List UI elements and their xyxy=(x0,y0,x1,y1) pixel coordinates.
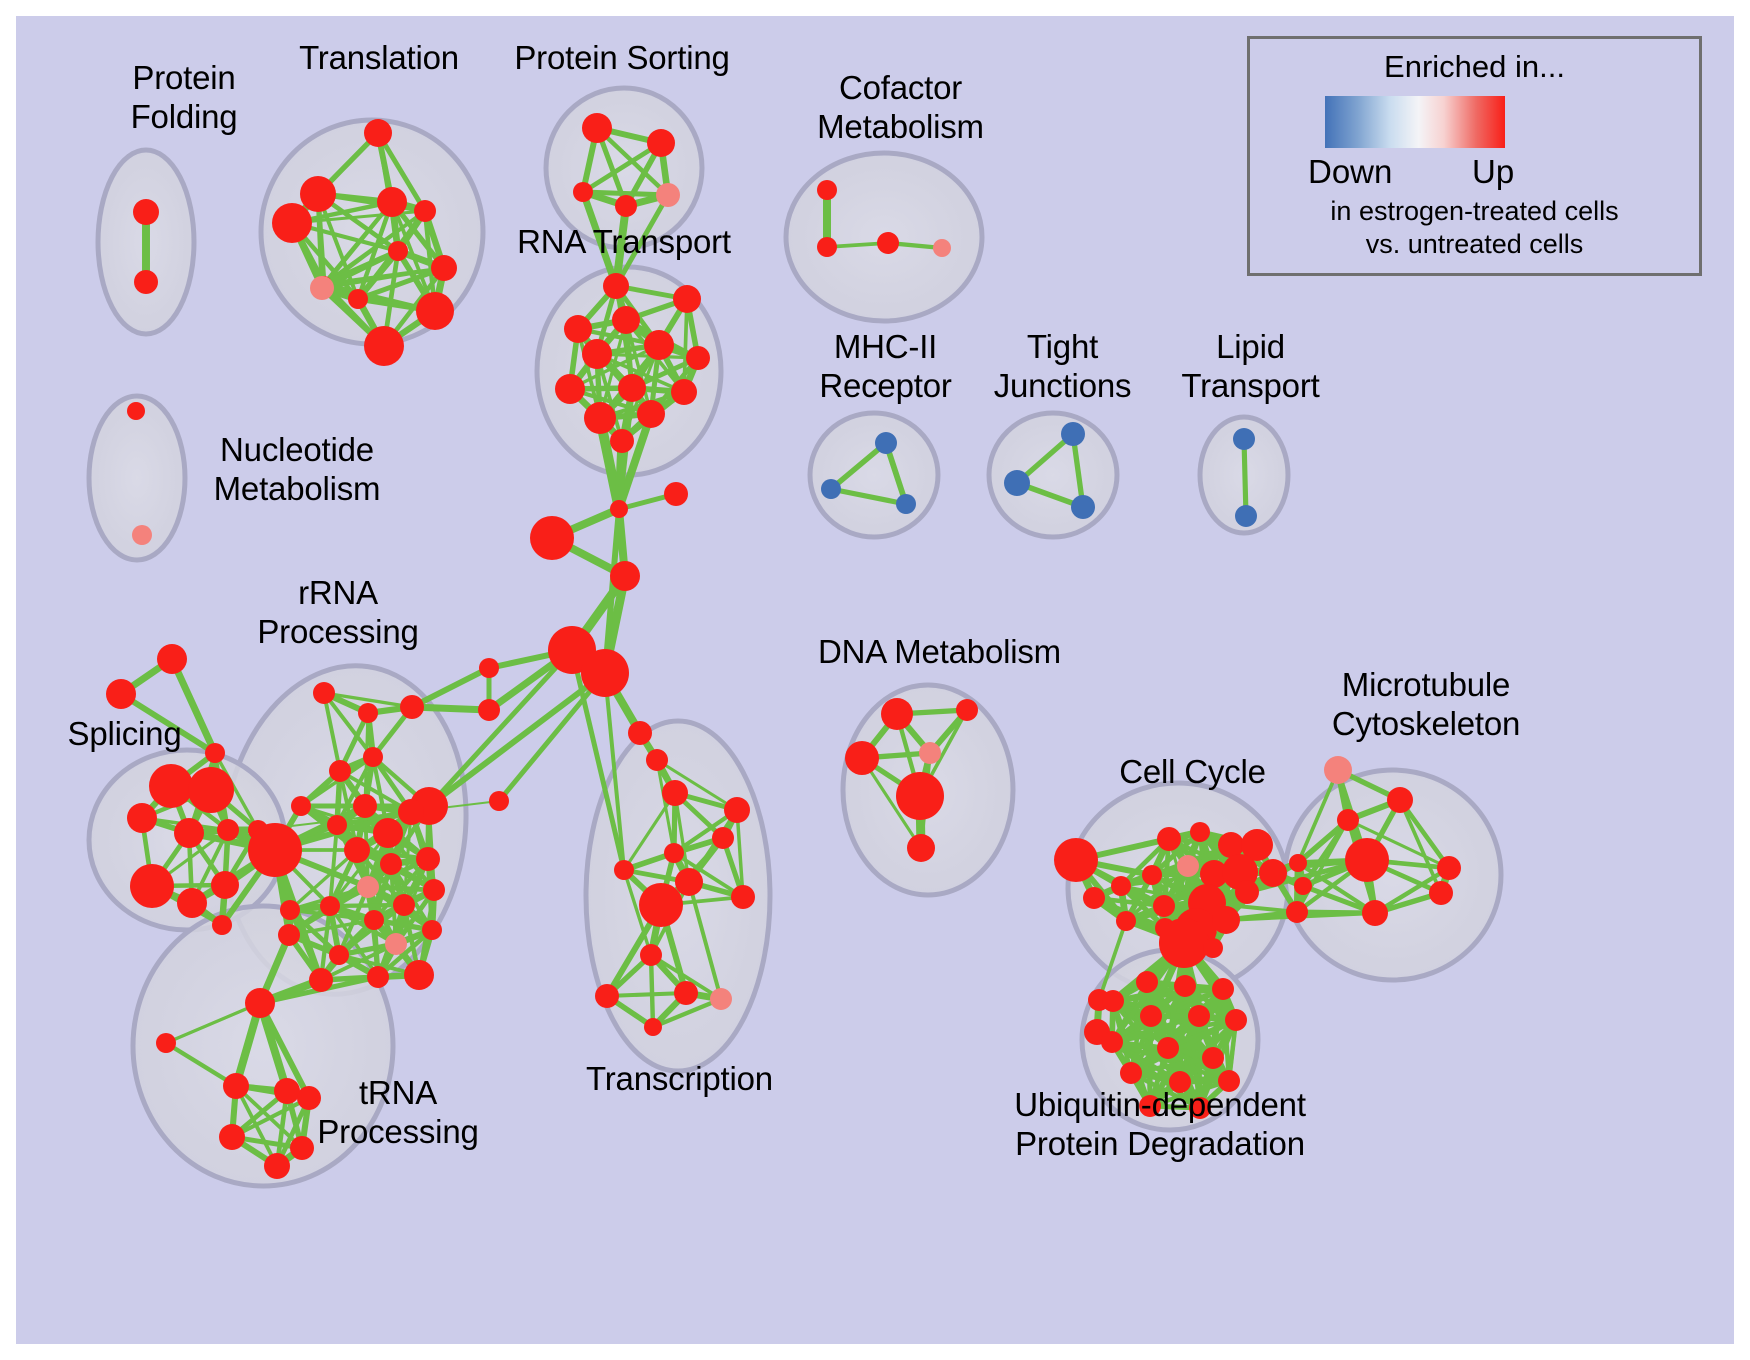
network-node[interactable] xyxy=(398,799,424,825)
network-node[interactable] xyxy=(363,747,383,767)
network-node[interactable] xyxy=(280,900,300,920)
cluster-label-nucleotide-metabolism: Nucleotide Metabolism xyxy=(192,430,402,508)
network-node[interactable] xyxy=(219,1124,245,1150)
network-node[interactable] xyxy=(1140,1005,1162,1027)
network-node[interactable] xyxy=(174,818,204,848)
network-node[interactable] xyxy=(358,703,378,723)
network-node[interactable] xyxy=(610,500,628,518)
network-node[interactable] xyxy=(610,561,640,591)
network-node[interactable] xyxy=(817,180,837,200)
network-node[interactable] xyxy=(724,797,750,823)
network-node[interactable] xyxy=(367,966,389,988)
network-node[interactable] xyxy=(1212,978,1234,1000)
network-node[interactable] xyxy=(188,767,234,813)
network-node[interactable] xyxy=(1061,422,1085,446)
cluster-label-protein-sorting: Protein Sorting xyxy=(502,38,742,77)
network-node[interactable] xyxy=(423,879,445,901)
network-node[interactable] xyxy=(614,860,634,880)
network-node[interactable] xyxy=(132,525,152,545)
network-node[interactable] xyxy=(731,885,755,909)
network-node[interactable] xyxy=(223,1073,249,1099)
network-node[interactable] xyxy=(956,699,978,721)
network-node[interactable] xyxy=(416,847,440,871)
network-node[interactable] xyxy=(1071,495,1095,519)
network-node[interactable] xyxy=(896,772,944,820)
network-node[interactable] xyxy=(353,794,377,818)
network-node[interactable] xyxy=(1235,880,1259,904)
network-node[interactable] xyxy=(1188,1005,1210,1027)
network-node[interactable] xyxy=(710,988,732,1010)
network-node[interactable] xyxy=(327,815,347,835)
legend-panel: Enriched in... Down Up in estrogen-treat… xyxy=(1247,36,1702,276)
network-edge xyxy=(583,192,668,195)
network-node[interactable] xyxy=(1120,1062,1142,1084)
cluster-label-dna-metabolism: DNA Metabolism xyxy=(812,632,1067,671)
network-node[interactable] xyxy=(603,273,629,299)
network-node[interactable] xyxy=(644,1018,662,1036)
legend-subtitle-line2: vs. untreated cells xyxy=(1250,229,1699,260)
network-node[interactable] xyxy=(422,920,442,940)
network-edge xyxy=(330,905,404,906)
network-node[interactable] xyxy=(291,796,311,816)
network-node[interactable] xyxy=(1174,975,1196,997)
legend-title: Enriched in... xyxy=(1250,49,1699,85)
cluster-label-rrna-processing: rRNA Processing xyxy=(243,573,433,651)
network-node[interactable] xyxy=(205,743,225,763)
network-node[interactable] xyxy=(393,894,415,916)
network-node[interactable] xyxy=(821,479,841,499)
network-node[interactable] xyxy=(582,339,612,369)
network-node[interactable] xyxy=(1225,1009,1247,1031)
network-node[interactable] xyxy=(1387,787,1413,813)
network-node[interactable] xyxy=(664,843,684,863)
network-node[interactable] xyxy=(845,741,879,775)
network-node[interactable] xyxy=(595,984,619,1008)
network-node[interactable] xyxy=(134,270,158,294)
network-node[interactable] xyxy=(919,742,941,764)
network-node[interactable] xyxy=(1203,938,1223,958)
network-node[interactable] xyxy=(896,494,916,514)
cluster-label-cell-cycle: Cell Cycle xyxy=(1105,752,1280,791)
network-edge xyxy=(1244,439,1246,516)
network-node[interactable] xyxy=(272,203,312,243)
network-node[interactable] xyxy=(1437,856,1461,880)
network-node[interactable] xyxy=(628,721,652,745)
network-node[interactable] xyxy=(1102,990,1124,1012)
network-node[interactable] xyxy=(431,255,457,281)
network-node[interactable] xyxy=(309,968,333,992)
legend-subtitle-line1: in estrogen-treated cells xyxy=(1250,196,1699,227)
network-node[interactable] xyxy=(1157,1037,1179,1059)
network-node[interactable] xyxy=(1345,838,1389,882)
network-node[interactable] xyxy=(1212,906,1240,934)
network-node[interactable] xyxy=(364,326,404,366)
network-node[interactable] xyxy=(647,129,675,157)
network-node[interactable] xyxy=(1157,827,1181,851)
network-node[interactable] xyxy=(404,960,434,990)
network-node[interactable] xyxy=(1324,756,1352,784)
network-node[interactable] xyxy=(582,113,612,143)
network-node[interactable] xyxy=(278,924,300,946)
network-node[interactable] xyxy=(329,760,351,782)
network-node[interactable] xyxy=(612,306,640,334)
network-node[interactable] xyxy=(479,658,499,678)
network-node[interactable] xyxy=(149,764,193,808)
network-node[interactable] xyxy=(377,187,407,217)
network-node[interactable] xyxy=(106,679,136,709)
network-node[interactable] xyxy=(637,400,665,428)
network-node[interactable] xyxy=(264,1153,290,1179)
network-node[interactable] xyxy=(1159,918,1209,968)
network-node[interactable] xyxy=(1004,470,1030,496)
network-node[interactable] xyxy=(1286,901,1308,923)
network-node[interactable] xyxy=(1111,876,1131,896)
network-node[interactable] xyxy=(127,402,145,420)
network-node[interactable] xyxy=(414,200,436,222)
network-node[interactable] xyxy=(646,749,668,771)
cluster-label-transcription: Transcription xyxy=(572,1059,787,1098)
network-node[interactable] xyxy=(664,482,688,506)
network-node[interactable] xyxy=(644,330,674,360)
network-node[interactable] xyxy=(610,429,634,453)
network-node[interactable] xyxy=(875,432,897,454)
network-node[interactable] xyxy=(217,819,239,841)
cluster-label-lipid-transport: Lipid Transport xyxy=(1163,327,1338,405)
cluster-label-mhc-ii-receptor: MHC-II Receptor xyxy=(798,327,973,405)
network-node[interactable] xyxy=(212,915,232,935)
legend-color-bar xyxy=(1325,96,1505,148)
network-node[interactable] xyxy=(640,944,662,966)
network-node[interactable] xyxy=(489,791,509,811)
network-node[interactable] xyxy=(1136,971,1158,993)
network-node[interactable] xyxy=(877,232,899,254)
network-node[interactable] xyxy=(1083,887,1105,909)
network-node[interactable] xyxy=(1101,1031,1123,1053)
network-node[interactable] xyxy=(656,183,680,207)
network-node[interactable] xyxy=(1289,854,1307,872)
network-node[interactable] xyxy=(211,871,239,899)
legend-down-label: Down xyxy=(1308,153,1392,191)
network-node[interactable] xyxy=(313,682,335,704)
network-node[interactable] xyxy=(1235,505,1257,527)
cluster-label-rna-transport: RNA Transport xyxy=(504,222,744,261)
network-node[interactable] xyxy=(1190,822,1210,842)
network-node[interactable] xyxy=(385,933,407,955)
network-node[interactable] xyxy=(130,864,174,908)
network-node[interactable] xyxy=(584,402,616,434)
network-node[interactable] xyxy=(555,374,585,404)
network-node[interactable] xyxy=(1202,1047,1224,1069)
network-node[interactable] xyxy=(357,876,379,898)
network-node[interactable] xyxy=(530,516,574,560)
network-node[interactable] xyxy=(1294,877,1312,895)
network-node[interactable] xyxy=(400,695,424,719)
network-node[interactable] xyxy=(686,346,710,370)
network-node[interactable] xyxy=(156,1033,176,1053)
network-node[interactable] xyxy=(907,834,935,862)
cluster-label-protein-folding: Protein Folding xyxy=(89,58,279,136)
network-node[interactable] xyxy=(1337,809,1359,831)
figure-stage: Protein FoldingTranslationProtein Sortin… xyxy=(0,0,1750,1360)
network-node[interactable] xyxy=(1177,855,1199,877)
cluster-label-translation: Translation xyxy=(274,38,484,77)
network-node[interactable] xyxy=(1153,895,1175,917)
network-node[interactable] xyxy=(564,315,592,343)
cluster-label-splicing: Splicing xyxy=(57,714,192,753)
network-node[interactable] xyxy=(388,241,408,261)
network-node[interactable] xyxy=(573,182,593,202)
network-node[interactable] xyxy=(274,1078,300,1104)
network-node[interactable] xyxy=(364,910,384,930)
network-node[interactable] xyxy=(1054,838,1098,882)
network-node[interactable] xyxy=(373,818,403,848)
network-node[interactable] xyxy=(344,837,370,863)
network-node[interactable] xyxy=(364,119,392,147)
network-node[interactable] xyxy=(1259,859,1287,887)
network-node[interactable] xyxy=(881,698,913,730)
network-node[interactable] xyxy=(674,981,698,1005)
cluster-label-tight-junctions: Tight Junctions xyxy=(975,327,1150,405)
network-node[interactable] xyxy=(1362,900,1388,926)
network-node[interactable] xyxy=(581,649,629,697)
network-node[interactable] xyxy=(933,239,951,257)
network-node[interactable] xyxy=(1116,911,1136,931)
legend-up-label: Up xyxy=(1472,153,1514,191)
network-node[interactable] xyxy=(320,896,340,916)
network-node[interactable] xyxy=(662,780,688,806)
cluster-label-cofactor-metabolism: Cofactor Metabolism xyxy=(793,68,1008,146)
cluster-label-microtubule-cytoskeleton: Microtubule Cytoskeleton xyxy=(1306,665,1546,743)
network-node[interactable] xyxy=(675,868,703,896)
network-node[interactable] xyxy=(310,276,334,300)
network-node[interactable] xyxy=(348,289,368,309)
network-node[interactable] xyxy=(133,199,159,225)
network-node[interactable] xyxy=(177,888,207,918)
network-node[interactable] xyxy=(248,823,302,877)
network-node[interactable] xyxy=(127,803,157,833)
cluster-label-trna-processing: tRNA Processing xyxy=(303,1073,493,1151)
network-node[interactable] xyxy=(1233,428,1255,450)
network-node[interactable] xyxy=(1142,865,1162,885)
cluster-ellipse-mhc-ii-receptor xyxy=(810,413,938,537)
network-node[interactable] xyxy=(615,195,637,217)
network-node[interactable] xyxy=(639,883,683,927)
network-node[interactable] xyxy=(1429,881,1453,905)
network-node[interactable] xyxy=(817,237,837,257)
network-node[interactable] xyxy=(157,644,187,674)
network-node[interactable] xyxy=(671,379,697,405)
network-node[interactable] xyxy=(618,374,646,402)
network-node[interactable] xyxy=(300,176,336,212)
network-node[interactable] xyxy=(329,945,349,965)
cluster-label-ubiquitin-protein-degradation: Ubiquitin-dependent Protein Degradation xyxy=(995,1085,1325,1163)
network-node[interactable] xyxy=(245,988,275,1018)
network-node[interactable] xyxy=(712,827,734,849)
network-node[interactable] xyxy=(673,285,701,313)
network-node[interactable] xyxy=(416,292,454,330)
network-node[interactable] xyxy=(380,853,402,875)
network-node[interactable] xyxy=(478,699,500,721)
